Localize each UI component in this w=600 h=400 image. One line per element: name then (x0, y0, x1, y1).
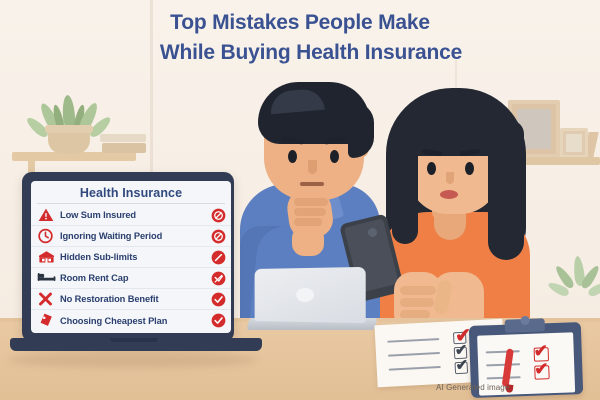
laptop-shadow (8, 352, 258, 368)
woman-mouth (440, 190, 458, 199)
warning-triangle-icon (37, 207, 57, 224)
mistake-row[interactable]: Room Rent Cap (31, 268, 231, 289)
illustration-canvas: ✔ ✔ ✔ ✔ ✔ Health Insurance Low Sum Insur… (0, 0, 600, 400)
laptop-lid: Health Insurance Low Sum InsuredIgnoring… (22, 172, 234, 342)
woman-eye-left (427, 162, 436, 175)
mistake-row[interactable]: Choosing Cheapest Plan (31, 310, 231, 331)
mistake-label: Choosing Cheapest Plan (57, 316, 211, 326)
paper-line (486, 350, 520, 353)
laptop-trackpad-notch (110, 338, 158, 342)
paper-line (389, 366, 441, 371)
mistake-row[interactable]: Ignoring Waiting Period (31, 226, 231, 247)
check-circle-icon (211, 292, 226, 307)
checkmark-icon: ✔ (533, 342, 548, 359)
mistake-label: Room Rent Cap (57, 273, 211, 283)
price-tag-icon (37, 312, 57, 329)
books-stack (100, 134, 146, 154)
woman-eye-right (465, 162, 474, 175)
woman-finger (400, 298, 434, 307)
man-hair-side (348, 102, 374, 158)
title-line-1: Top Mistakes People Make (0, 8, 600, 38)
check-circle-icon (211, 313, 226, 328)
prohibition-icon (211, 208, 226, 223)
mistake-row[interactable]: Low Sum Insured (31, 205, 231, 226)
checkmark-icon: ✔ (455, 358, 468, 374)
red-pen (502, 348, 514, 387)
screen-divider (37, 203, 225, 204)
right-plant (556, 252, 600, 322)
laptop-logo (296, 288, 314, 302)
mistakes-list: Low Sum InsuredIgnoring Waiting PeriodHi… (31, 205, 231, 331)
cross-x-icon (37, 291, 57, 308)
checkmark-icon: ✔ (534, 360, 549, 377)
woman-nose (446, 172, 454, 184)
woman-hair-left (392, 124, 418, 244)
screen-heading: Health Insurance (31, 181, 231, 203)
paper-line (387, 338, 439, 343)
laptop-with-checklist: Health Insurance Low Sum InsuredIgnoring… (22, 172, 254, 354)
plant-pot-rim (45, 125, 93, 133)
woman-finger (400, 286, 436, 295)
paper-line (486, 363, 520, 366)
mistake-label: Ignoring Waiting Period (57, 231, 211, 241)
man-finger (294, 218, 322, 226)
paper-line (388, 352, 440, 357)
prohibition-icon (211, 229, 226, 244)
hospital-building-icon (37, 249, 57, 266)
man-eye-right (330, 150, 339, 163)
slash-circle-icon (211, 250, 226, 265)
book (100, 134, 146, 142)
man-nose (308, 160, 317, 174)
title-line-2: While Buying Health Insurance (0, 38, 600, 68)
man-finger (294, 198, 328, 206)
man-eye-left (288, 150, 297, 163)
silver-laptop-lid (255, 267, 366, 323)
mistake-label: Hidden Sub-limits (57, 252, 211, 262)
woman-hair-right (488, 120, 524, 260)
laptop-screen[interactable]: Health Insurance Low Sum InsuredIgnoring… (31, 181, 231, 333)
page-title: Top Mistakes People Make While Buying He… (0, 8, 600, 68)
man-finger (294, 208, 326, 216)
mistake-row[interactable]: No Restoration Benefit (31, 289, 231, 310)
book (102, 143, 146, 153)
silver-laptop (248, 268, 374, 330)
man-mouth (300, 182, 324, 186)
picture-frame-small (560, 128, 588, 158)
ai-watermark: AI Generated image (436, 383, 509, 392)
mistake-row[interactable]: Hidden Sub-limits (31, 247, 231, 268)
crossed-circle-icon (211, 271, 226, 286)
mistake-label: No Restoration Benefit (57, 294, 211, 304)
clock-icon (37, 228, 57, 245)
mistake-label: Low Sum Insured (57, 210, 211, 220)
bed-icon (37, 270, 57, 287)
